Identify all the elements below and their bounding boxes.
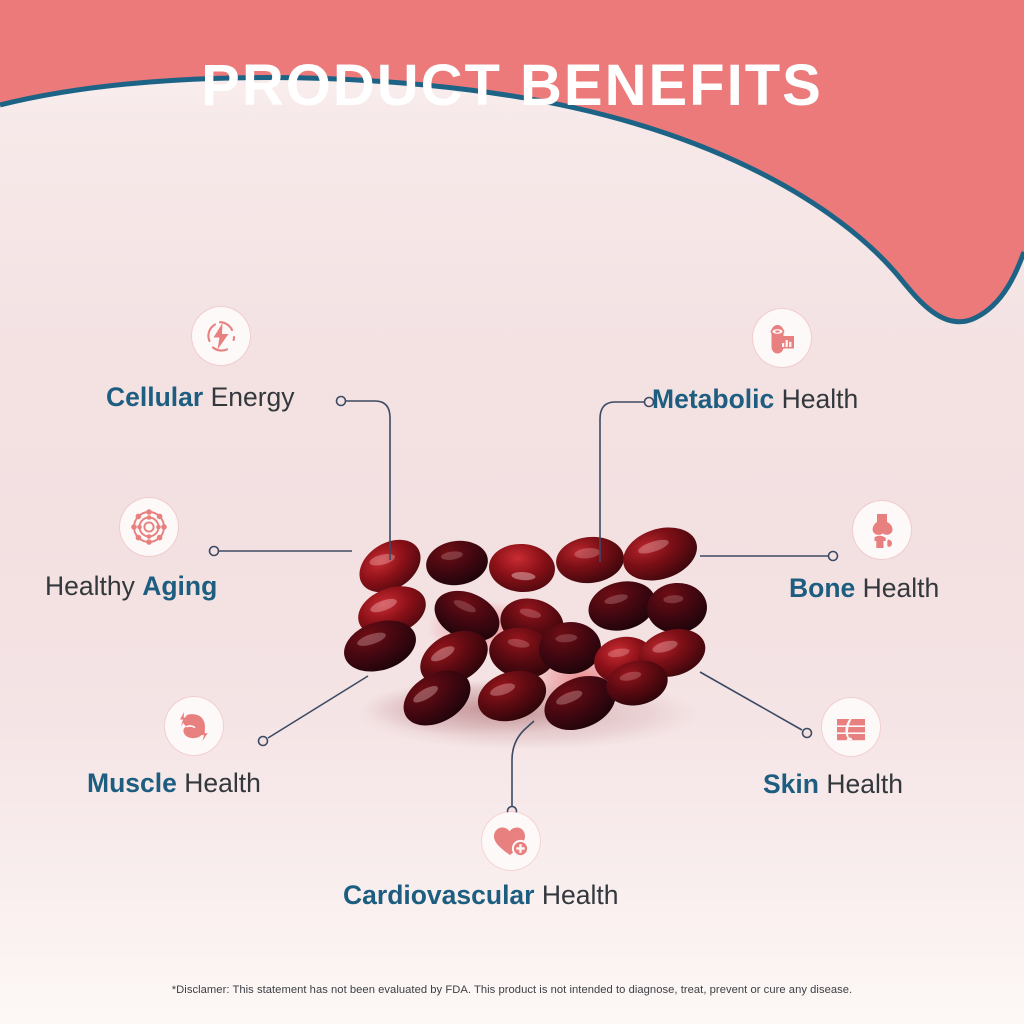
connector-cardiovascular-health [512,721,534,806]
label-plain-part: Health [184,768,261,798]
benefit-label-cardiovascular-health: Cardiovascular Health [343,882,618,909]
connector-metabolic-health [600,402,644,562]
label-bold-part: Cellular [106,382,203,412]
label-bold-part: Metabolic [652,384,774,414]
lightning-bolt-icon [192,307,250,365]
connector-muscle-health [268,676,368,738]
label-bold-part: Cardiovascular [343,880,534,910]
label-plain-part: Energy [211,382,295,412]
label-bold-part: Bone [789,573,855,603]
benefit-label-bone-health: Bone Health [789,575,939,602]
benefit-label-skin-health: Skin Health [763,771,903,798]
measuring-tape-chart-icon [753,309,811,367]
label-plain-part: Health [826,769,903,799]
heart-medical-plus-icon [482,812,540,870]
flexed-bicep-icon [165,697,223,755]
label-plain-part: Health [542,880,619,910]
benefit-label-metabolic-health: Metabolic Health [652,386,858,413]
label-bold-part: Muscle [87,768,177,798]
benefit-label-healthy-aging: Healthy Aging [45,573,217,600]
skin-layers-hair-follicle-icon [822,698,880,756]
connector-skin-health [700,672,802,730]
connector-dot-bone-health [829,552,838,561]
page-title: PRODUCT BENEFITS [0,57,1024,115]
connector-cellular-energy [346,401,390,560]
connector-dot-skin-health [803,729,812,738]
benefit-label-cellular-energy: Cellular Energy [106,384,295,411]
connector-dot-healthy-aging [210,547,219,556]
disclaimer-text: *Disclamer: This statement has not been … [0,984,1024,996]
label-bold-part: Skin [763,769,819,799]
knee-joint-bone-icon [853,501,911,559]
connector-dot-muscle-health [259,737,268,746]
product-benefits-infographic: PRODUCT BENEFITS [0,0,1024,1024]
label-plain-part: Healthy [45,571,135,601]
benefit-label-muscle-health: Muscle Health [87,770,261,797]
connector-dot-cellular-energy [337,397,346,406]
cell-nucleus-icon [120,498,178,556]
label-plain-part: Health [863,573,940,603]
label-bold-part: Aging [142,571,217,601]
label-plain-part: Health [782,384,859,414]
